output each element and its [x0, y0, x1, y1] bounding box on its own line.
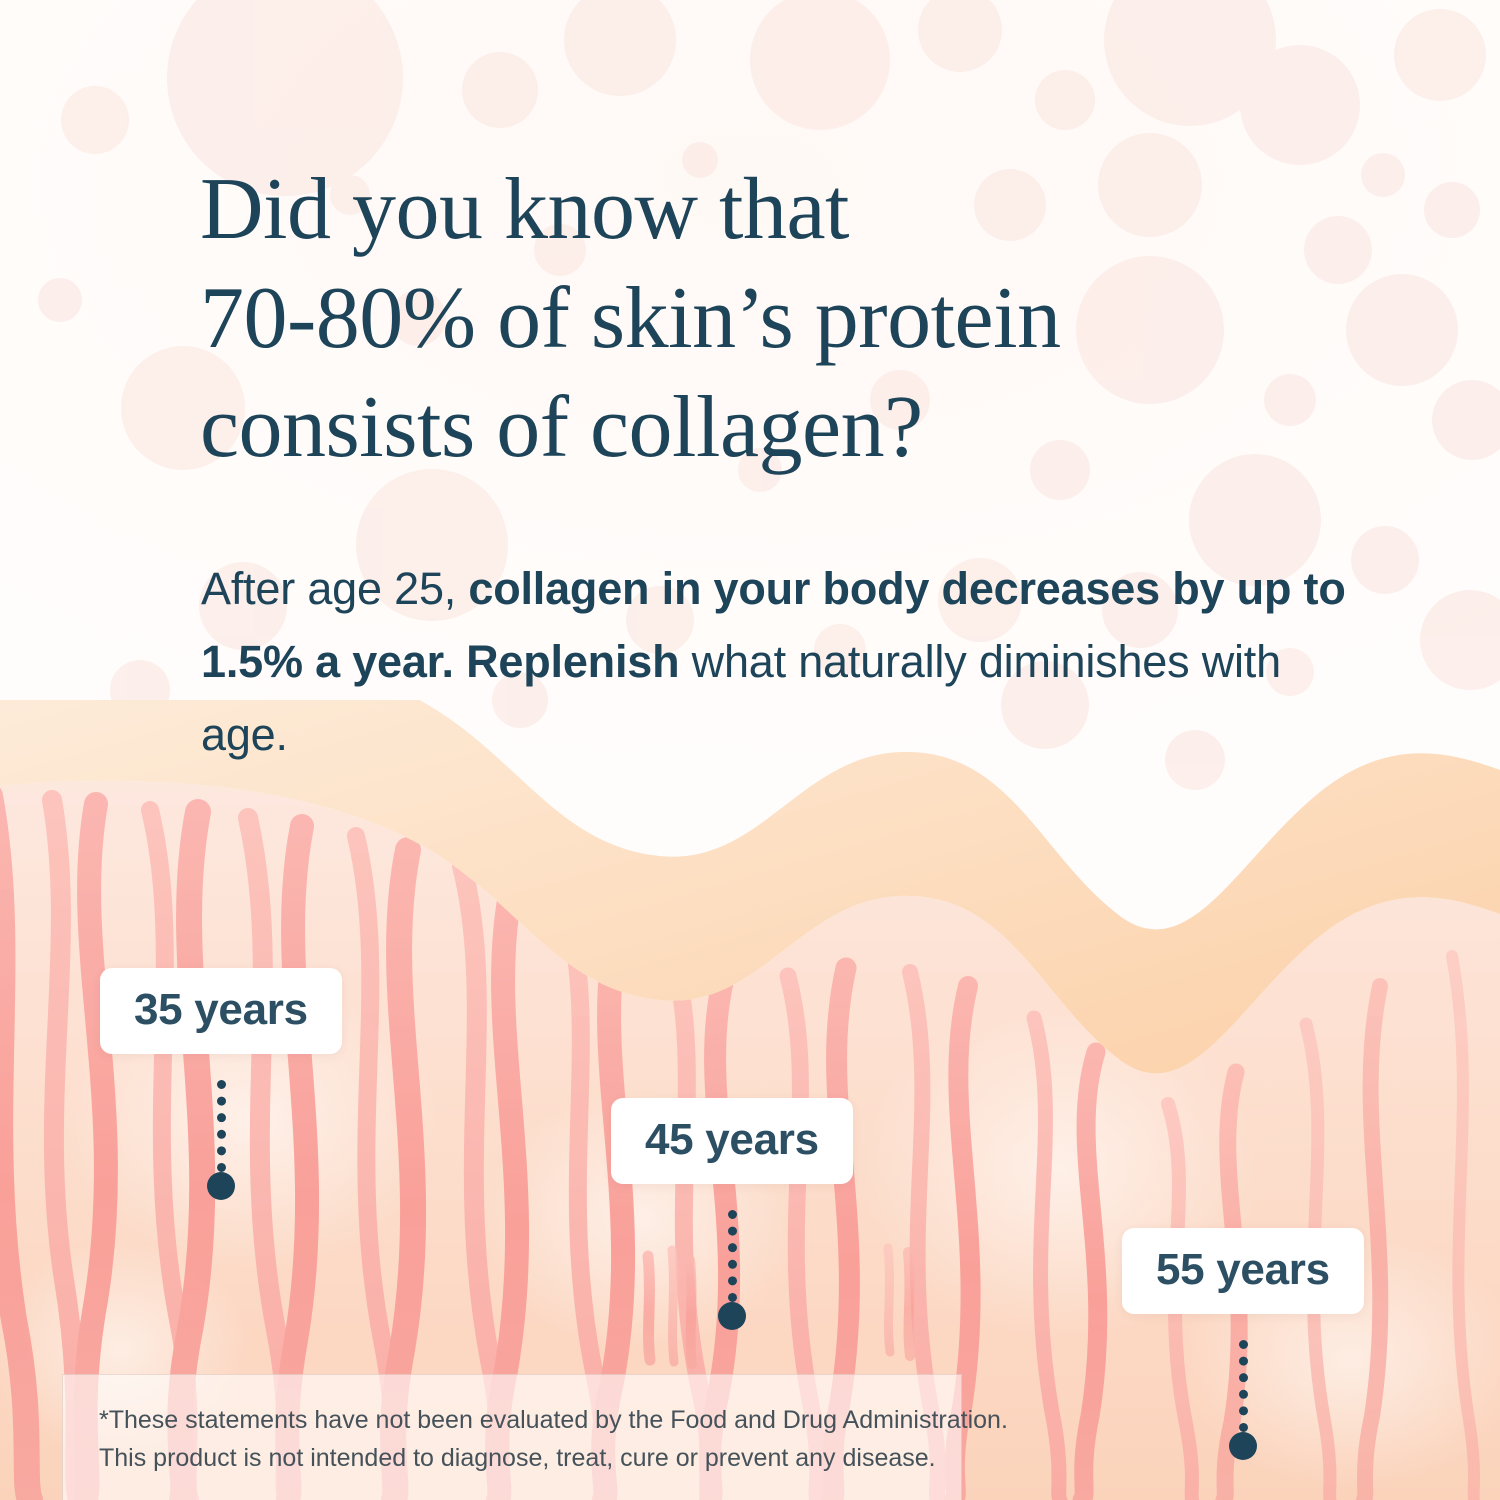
text-block: Did you know that 70-80% of skin’s prote… [0, 0, 1500, 760]
leader-line-35 [217, 1080, 226, 1172]
body-segment-lead: After age 25, [201, 563, 468, 614]
callout-label-55: 55 years [1122, 1228, 1364, 1314]
callout-label-45: 45 years [611, 1098, 853, 1184]
headline-line-1: Did you know that [200, 155, 1410, 264]
page-title: Did you know that 70-80% of skin’s prote… [200, 155, 1410, 482]
leader-dot-35 [207, 1172, 235, 1200]
headline-line-2: 70-80% of skin’s protein [200, 264, 1410, 373]
leader-dot-45 [718, 1302, 746, 1330]
leader-line-45 [728, 1210, 737, 1302]
callout-35-years[interactable]: 35 years [100, 968, 342, 1054]
leader-dot-55 [1229, 1432, 1257, 1460]
headline-line-3: consists of collagen? [200, 373, 1410, 482]
infographic-canvas: Did you know that 70-80% of skin’s prote… [0, 0, 1500, 1500]
callout-45-years[interactable]: 45 years [611, 1098, 853, 1184]
disclaimer-line-2: This product is not intended to diagnose… [99, 1439, 925, 1477]
callout-55-years[interactable]: 55 years [1122, 1228, 1364, 1314]
body-paragraph: After age 25, collagen in your body decr… [201, 553, 1361, 772]
disclaimer-line-1: *These statements have not been evaluate… [99, 1401, 925, 1439]
callout-label-35: 35 years [100, 968, 342, 1054]
disclaimer-box: *These statements have not been evaluate… [62, 1374, 962, 1500]
leader-line-55 [1239, 1340, 1248, 1432]
